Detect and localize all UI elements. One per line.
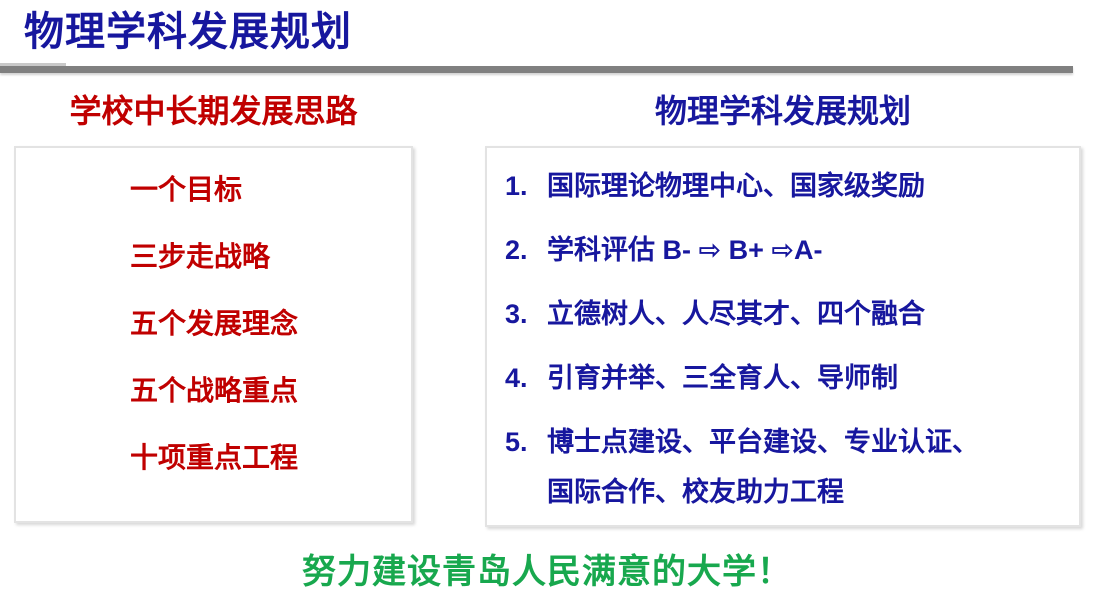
list-item-text: 学科评估 B- ⇨ B+ ⇨A- (547, 230, 1071, 270)
list-item[interactable]: 4. 引育并举、三全育人、导师制 (499, 358, 1071, 398)
list-item[interactable]: 1. 国际理论物理中心、国家级奖励 (499, 166, 1071, 206)
list-item-number: 4. (499, 358, 547, 398)
list-item-line: 立德树人、人尽其才、四个融合 (547, 294, 1071, 334)
title-divider (0, 66, 1073, 73)
list-item[interactable]: 5. 博士点建设、平台建设、专业认证、 国际合作、校友助力工程 (499, 422, 1071, 512)
footer-slogan: 努力建设青岛人民满意的大学！ (0, 548, 1094, 596)
list-item-text: 立德树人、人尽其才、四个融合 (547, 294, 1071, 334)
right-column: 物理学科发展规划 1. 国际理论物理中心、国家级奖励 2. 学科评估 B- ⇨ … (485, 78, 1081, 527)
list-item[interactable]: 2. 学科评估 B- ⇨ B+ ⇨A- (499, 230, 1071, 270)
left-panel: 一个目标 三步走战略 五个发展理念 五个战略重点 十项重点工程 (14, 146, 413, 523)
list-item-number: 1. (499, 166, 547, 206)
list-item[interactable]: 五个发展理念 (26, 304, 401, 344)
list-item-line: 国际合作、校友助力工程 (547, 472, 1071, 512)
physics-plan-list: 1. 国际理论物理中心、国家级奖励 2. 学科评估 B- ⇨ B+ ⇨A- 3. (499, 166, 1071, 512)
list-item-line: 国际理论物理中心、国家级奖励 (547, 166, 1071, 206)
list-item[interactable]: 五个战略重点 (26, 371, 401, 411)
list-item-text: 国际理论物理中心、国家级奖励 (547, 166, 1071, 206)
list-item[interactable]: 3. 立德树人、人尽其才、四个融合 (499, 294, 1071, 334)
left-column-heading: 学校中长期发展思路 (14, 88, 413, 134)
list-item[interactable]: 一个目标 (26, 170, 401, 210)
list-item-line: 引育并举、三全育人、导师制 (547, 358, 1071, 398)
list-item-line: 博士点建设、平台建设、专业认证、 (547, 422, 1071, 462)
list-item-text: 引育并举、三全育人、导师制 (547, 358, 1071, 398)
page-title: 物理学科发展规划 (24, 8, 352, 56)
content-columns: 学校中长期发展思路 一个目标 三步走战略 五个发展理念 五个战略重点 十项重点工… (0, 78, 1094, 548)
right-panel: 1. 国际理论物理中心、国家级奖励 2. 学科评估 B- ⇨ B+ ⇨A- 3. (485, 146, 1081, 527)
list-item-number: 5. (499, 422, 547, 462)
list-item[interactable]: 三步走战略 (26, 237, 401, 277)
right-column-heading: 物理学科发展规划 (485, 88, 1081, 134)
list-item-text: 博士点建设、平台建设、专业认证、 国际合作、校友助力工程 (547, 422, 1071, 512)
left-column: 学校中长期发展思路 一个目标 三步走战略 五个发展理念 五个战略重点 十项重点工… (14, 78, 413, 523)
list-item[interactable]: 十项重点工程 (26, 438, 401, 478)
list-item-number: 3. (499, 294, 547, 334)
school-strategy-list: 一个目标 三步走战略 五个发展理念 五个战略重点 十项重点工程 (26, 170, 401, 478)
slide-canvas: 物理学科发展规划 学校中长期发展思路 一个目标 三步走战略 五个发展理念 五个战… (0, 0, 1094, 613)
list-item-line: 学科评估 B- ⇨ B+ ⇨A- (547, 230, 1071, 270)
list-item-number: 2. (499, 230, 547, 270)
